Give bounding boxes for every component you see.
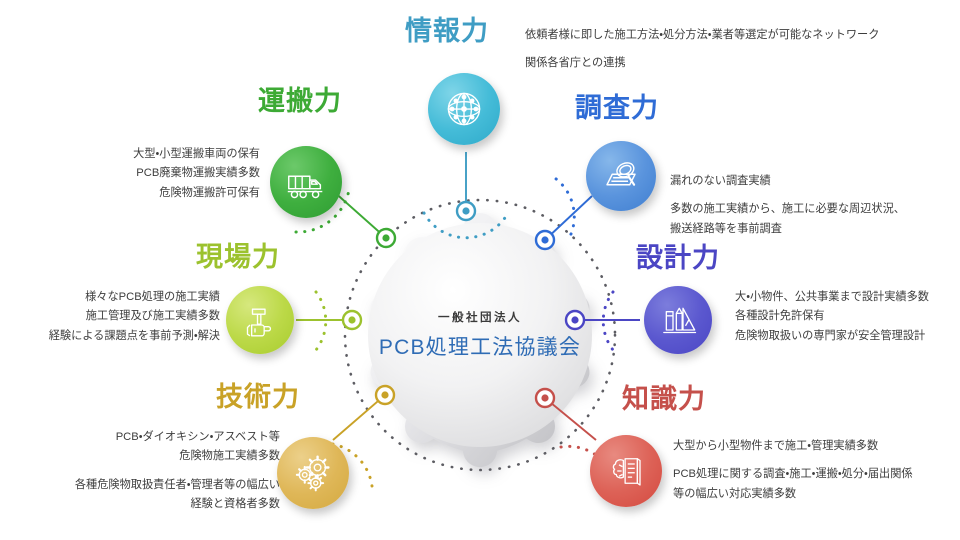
site-line-3: 経験による課題点を事前予測・解決 <box>8 327 220 346</box>
knowledge-line-1: 大型から小型物件まで施工・管理実績多数 <box>673 437 913 456</box>
design-line-2: 各種設計免許保有 <box>735 307 929 326</box>
section-information: 情報力 <box>405 18 489 45</box>
info-line-1: 依頼者様に即した施工方法・処分方法・業者等選定が可能なネットワーク <box>525 26 879 45</box>
center-title: PCB処理工法協議会 <box>379 331 581 361</box>
tech-line-2: 危険物施工実績多数 <box>30 447 280 466</box>
section-body-transport: 大型・小型運搬車両の保有 PCB廃棄物運搬実績多数 危険物運搬許可保有 <box>60 145 260 203</box>
knowledge-line-2: PCB処理に関する調査・施工・運搬・処分・届出関係 <box>673 465 913 484</box>
section-title-knowledge: 知識力 <box>622 386 706 413</box>
gears-icon[interactable] <box>277 437 349 509</box>
tech-line-4: 経験と資格者多数 <box>30 495 280 514</box>
drafting-tools-icon[interactable] <box>644 286 712 354</box>
section-transport: 運搬力 <box>258 88 342 115</box>
section-body-design: 大・小物件、公共事業まで設計実績多数 各種設計免許保有 危険物取扱いの専門家が安… <box>735 288 929 346</box>
section-body-technology: PCB・ダイオキシン・アスベスト等 危険物施工実績多数 各種危険物取扱責任者・管… <box>30 428 280 514</box>
section-body-survey: 漏れのない調査実績 多数の施工実績から、施工に必要な周辺状況、 搬送経路等を事前… <box>670 172 905 239</box>
section-knowledge: 知識力 <box>622 386 706 413</box>
hub-node-information[interactable] <box>457 202 475 220</box>
section-survey: 調査力 <box>575 95 659 122</box>
section-title-technology: 技術力 <box>216 384 300 411</box>
infographic-canvas: 一般社団法人 PCB処理工法協議会 情報力 依頼者様に即した施工方法・処分方法・… <box>0 0 960 540</box>
section-body-site: 様々なPCB処理の施工実績 施工管理及び施工実績多数 経験による課題点を事前予測… <box>8 288 220 346</box>
survey-line-3: 搬送経路等を事前調査 <box>670 220 905 239</box>
site-line-2: 施工管理及び施工実績多数 <box>8 307 220 326</box>
section-title-design: 設計力 <box>636 245 720 272</box>
hammer-hand-icon[interactable] <box>226 286 294 354</box>
info-line-2: 関係各省庁との連携 <box>525 54 879 73</box>
tech-line-1: PCB・ダイオキシン・アスベスト等 <box>30 428 280 447</box>
site-line-1: 様々なPCB処理の施工実績 <box>8 288 220 307</box>
network-sphere-icon[interactable] <box>428 73 500 145</box>
center-subtitle: 一般社団法人 <box>438 309 522 325</box>
knowledge-line-3: 等の幅広い対応実績多数 <box>673 485 913 504</box>
section-technology: 技術力 <box>216 384 300 411</box>
section-title-site: 現場力 <box>196 244 280 271</box>
dump-truck-icon[interactable] <box>270 146 342 218</box>
design-line-3: 危険物取扱いの専門家が安全管理設計 <box>735 327 929 346</box>
hub-node-site[interactable] <box>343 311 361 329</box>
section-body-knowledge: 大型から小型物件まで施工・管理実績多数 PCB処理に関する調査・施工・運搬・処分… <box>673 437 913 504</box>
section-design: 設計力 <box>636 245 720 272</box>
survey-line-2: 多数の施工実績から、施工に必要な周辺状況、 <box>670 200 905 219</box>
transport-line-1: 大型・小型運搬車両の保有 <box>60 145 260 164</box>
section-site: 現場力 <box>196 244 280 271</box>
center-hub: 一般社団法人 PCB処理工法協議会 <box>370 225 590 445</box>
tech-line-3: 各種危険物取扱責任者・管理者等の幅広い <box>30 476 280 495</box>
transport-line-2: PCB廃棄物運搬実績多数 <box>60 164 260 183</box>
brain-book-icon[interactable] <box>590 435 662 507</box>
transport-line-3: 危険物運搬許可保有 <box>60 184 260 203</box>
section-title-information: 情報力 <box>405 18 489 45</box>
magnifier-document-icon[interactable] <box>586 141 656 211</box>
survey-line-1: 漏れのない調査実績 <box>670 172 905 191</box>
section-title-transport: 運搬力 <box>258 88 342 115</box>
section-title-survey: 調査力 <box>575 95 659 122</box>
section-body-information: 依頼者様に即した施工方法・処分方法・業者等選定が可能なネットワーク 関係各省庁と… <box>525 26 879 74</box>
design-line-1: 大・小物件、公共事業まで設計実績多数 <box>735 288 929 307</box>
